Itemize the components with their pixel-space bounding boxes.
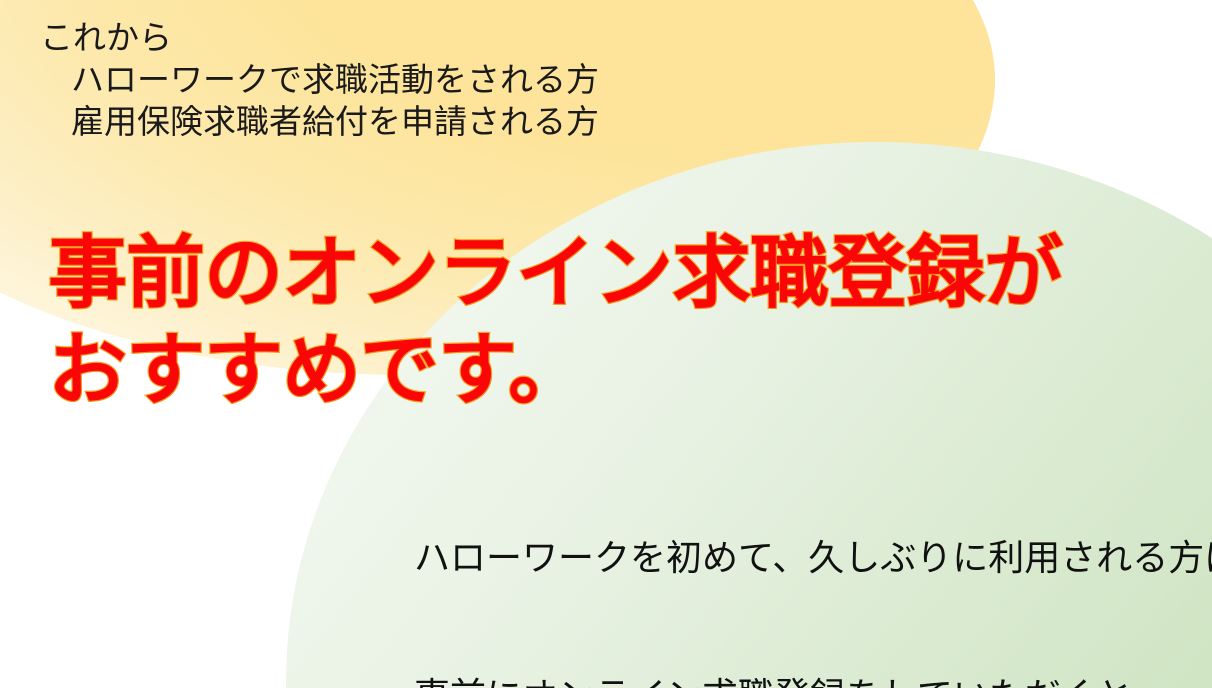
body-line-1-text: ハローワークを初めて、久しぶりに利用される方は [414,537,1212,578]
body-line-1: ハローワークを初めて、久しぶりに利用される方は [334,489,1204,627]
headline-line-2: おすすめです。 [48,321,1178,418]
headline-line-1: 事前のオンライン求職登録が [48,224,1178,321]
body-line-2-text: 事前にオンライン求職登録をしていただくと [414,675,1133,688]
slide-content: これから ハローワークで求職活動をされる方 雇用保険求職者給付を申請される方 事… [0,0,1212,688]
intro-line-2: ハローワークで求職活動をされる方 [40,59,860,101]
body-line-2: 事前にオンライン求職登録をしていただくと [334,627,1204,688]
intro-line-1: これから [40,17,860,59]
headline-block: 事前のオンライン求職登録が おすすめです。 [48,224,1178,418]
slide-canvas: これから ハローワークで求職活動をされる方 雇用保険求職者給付を申請される方 事… [0,0,1212,688]
intro-text-block: これから ハローワークで求職活動をされる方 雇用保険求職者給付を申請される方 [40,17,860,143]
intro-line-3: 雇用保険求職者給付を申請される方 [40,101,860,143]
body-text-block: ハローワークを初めて、久しぶりに利用される方は 事前にオンライン求職登録をしてい… [334,489,1204,688]
